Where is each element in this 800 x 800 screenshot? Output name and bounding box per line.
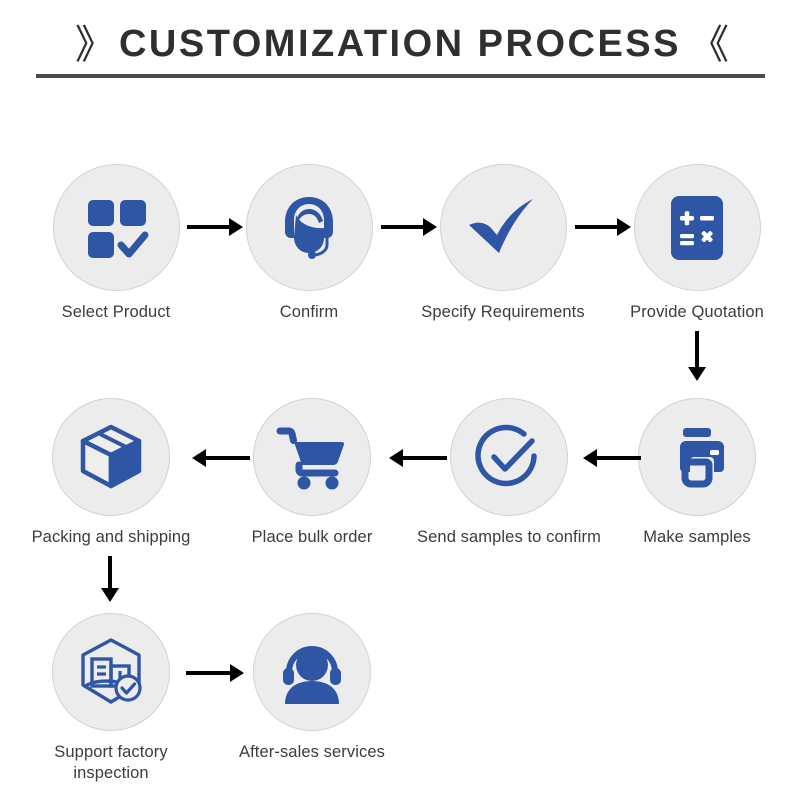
process-step-send-samples-to-confirm[interactable]: Send samples to confirm	[434, 398, 584, 548]
step-icon-circle	[253, 398, 371, 516]
step-label: Confirm	[234, 302, 384, 323]
connector-arrow-8-to-9	[98, 556, 122, 602]
printer-icon	[662, 424, 732, 490]
arrow-shaft	[695, 331, 699, 367]
process-step-specify-requirements[interactable]: Specify Requirements	[428, 164, 578, 323]
step-label: Packing and shipping	[16, 527, 206, 548]
step-label: Select Product	[41, 302, 191, 323]
arrow-shaft	[381, 225, 423, 229]
step-icon-circle	[246, 164, 373, 291]
arrow-head	[389, 449, 403, 467]
step-icon-circle	[52, 398, 170, 516]
circle-check-icon	[472, 420, 546, 494]
step-icon-circle	[450, 398, 568, 516]
checkmark-icon	[463, 191, 543, 265]
step-icon-circle	[638, 398, 756, 516]
step-icon-circle	[52, 613, 170, 731]
connector-arrow-7-to-8	[192, 446, 250, 470]
arrow-head	[101, 588, 119, 602]
title-divider-rule	[36, 74, 765, 78]
step-label: Specify Requirements	[408, 302, 598, 323]
step-label: Provide Quotation	[602, 302, 792, 323]
arrow-head	[583, 449, 597, 467]
step-label: Support factory inspection	[16, 742, 206, 784]
process-step-packing-and-shipping[interactable]: Packing and shipping	[36, 398, 186, 548]
step-label: After-sales services	[217, 742, 407, 763]
step-icon-circle	[634, 164, 761, 291]
arrow-head	[192, 449, 206, 467]
arrow-shaft	[597, 456, 641, 460]
chevron-right-decoration: 《	[689, 12, 725, 70]
step-label: Make samples	[622, 527, 772, 548]
process-step-support-factory-inspection[interactable]: Support factory inspection	[36, 613, 186, 784]
arrow-shaft	[187, 225, 229, 229]
step-icon-circle	[253, 613, 371, 731]
process-step-provide-quotation[interactable]: Provide Quotation	[622, 164, 772, 323]
connector-arrow-4-to-5	[685, 331, 709, 381]
calculator-icon	[663, 192, 731, 264]
process-step-make-samples[interactable]: Make samples	[622, 398, 772, 548]
factory-shield-check-icon	[73, 635, 149, 709]
page-title-block: 》CUSTOMIZATION PROCESS《	[0, 12, 800, 70]
arrow-shaft	[108, 556, 112, 588]
shopping-cart-icon	[275, 422, 349, 492]
process-step-confirm[interactable]: Confirm	[234, 164, 384, 323]
step-label: Place bulk order	[237, 527, 387, 548]
arrow-shaft	[186, 671, 230, 675]
headset-agent-icon	[272, 191, 346, 265]
step-label: Send samples to confirm	[414, 527, 604, 548]
arrow-shaft	[206, 456, 250, 460]
page-title: CUSTOMIZATION PROCESS	[119, 23, 681, 66]
connector-arrow-9-to-10	[186, 661, 244, 685]
step-icon-circle	[53, 164, 180, 291]
process-step-place-bulk-order[interactable]: Place bulk order	[237, 398, 387, 548]
connector-arrow-5-to-6	[583, 446, 641, 470]
connector-arrow-6-to-7	[389, 446, 447, 470]
chevron-left-decoration: 》	[75, 12, 111, 70]
arrow-head	[688, 367, 706, 381]
step-icon-circle	[440, 164, 567, 291]
grid-check-icon	[80, 192, 152, 264]
arrow-shaft	[575, 225, 617, 229]
package-box-icon	[74, 421, 148, 493]
arrow-shaft	[403, 456, 447, 460]
process-step-select-product[interactable]: Select Product	[41, 164, 191, 323]
headset-support-icon	[275, 638, 349, 706]
process-step-after-sales-services[interactable]: After-sales services	[237, 613, 387, 763]
